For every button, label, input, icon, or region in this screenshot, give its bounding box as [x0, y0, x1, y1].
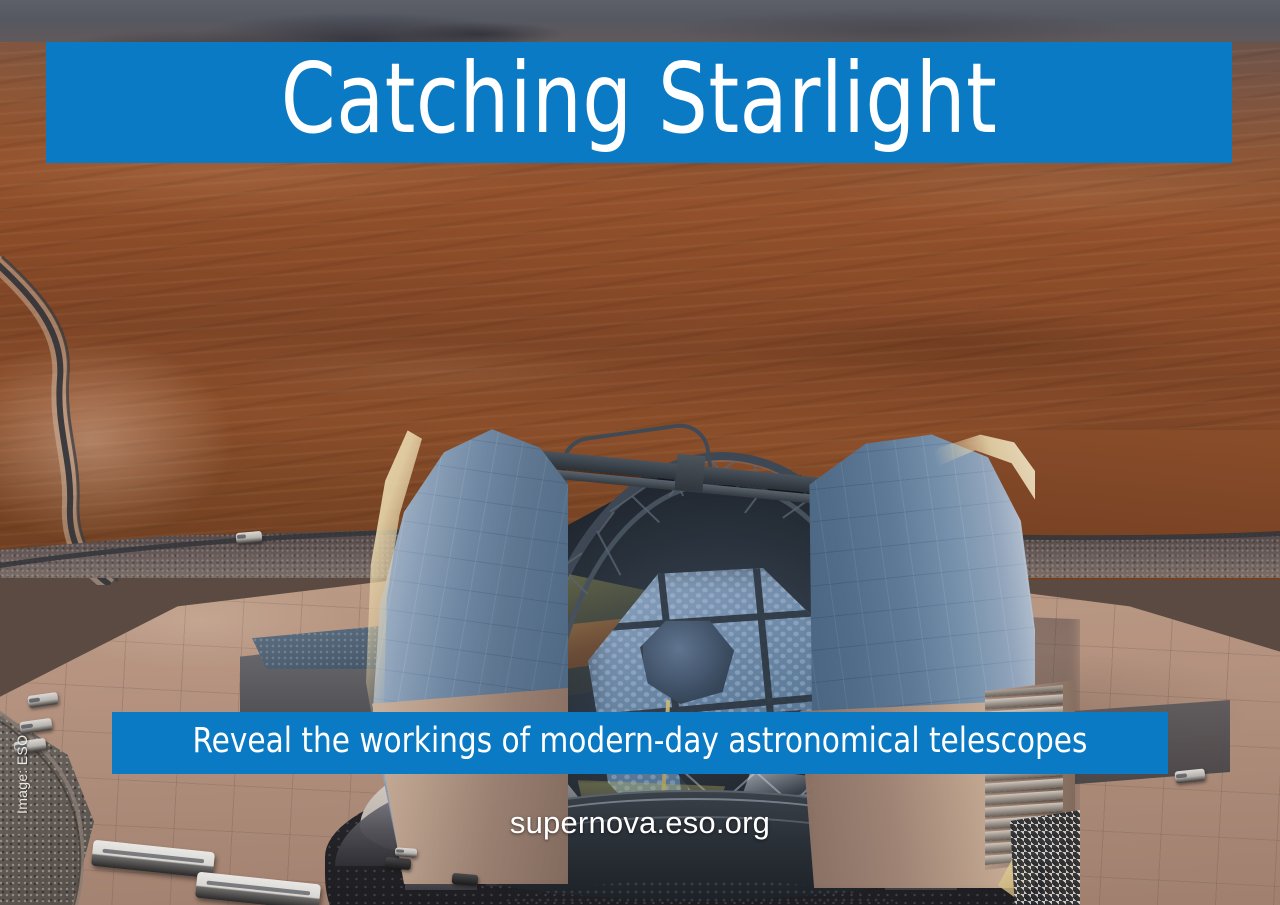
page-title: Catching Starlight	[281, 50, 997, 155]
truss-member	[568, 576, 588, 595]
parked-car	[385, 857, 412, 870]
parked-truck	[395, 847, 418, 858]
truss-member	[597, 530, 622, 575]
image-credit: Image: ESO	[14, 735, 30, 814]
truss-member	[598, 511, 615, 533]
crane-machinery-box	[674, 454, 705, 492]
subtitle-banner: Reveal the workings of modern-day astron…	[112, 712, 1168, 774]
poster-canvas: Catching Starlight Reveal the workings o…	[0, 0, 1280, 905]
parked-car	[452, 873, 479, 886]
telescope-dome	[0, 180, 1280, 740]
site-url[interactable]: supernova.eso.org	[0, 805, 1280, 841]
subtitle: Reveal the workings of modern-day astron…	[193, 724, 1088, 762]
truss-member	[631, 495, 660, 523]
parked-truck	[236, 531, 263, 544]
title-banner: Catching Starlight	[46, 42, 1232, 163]
